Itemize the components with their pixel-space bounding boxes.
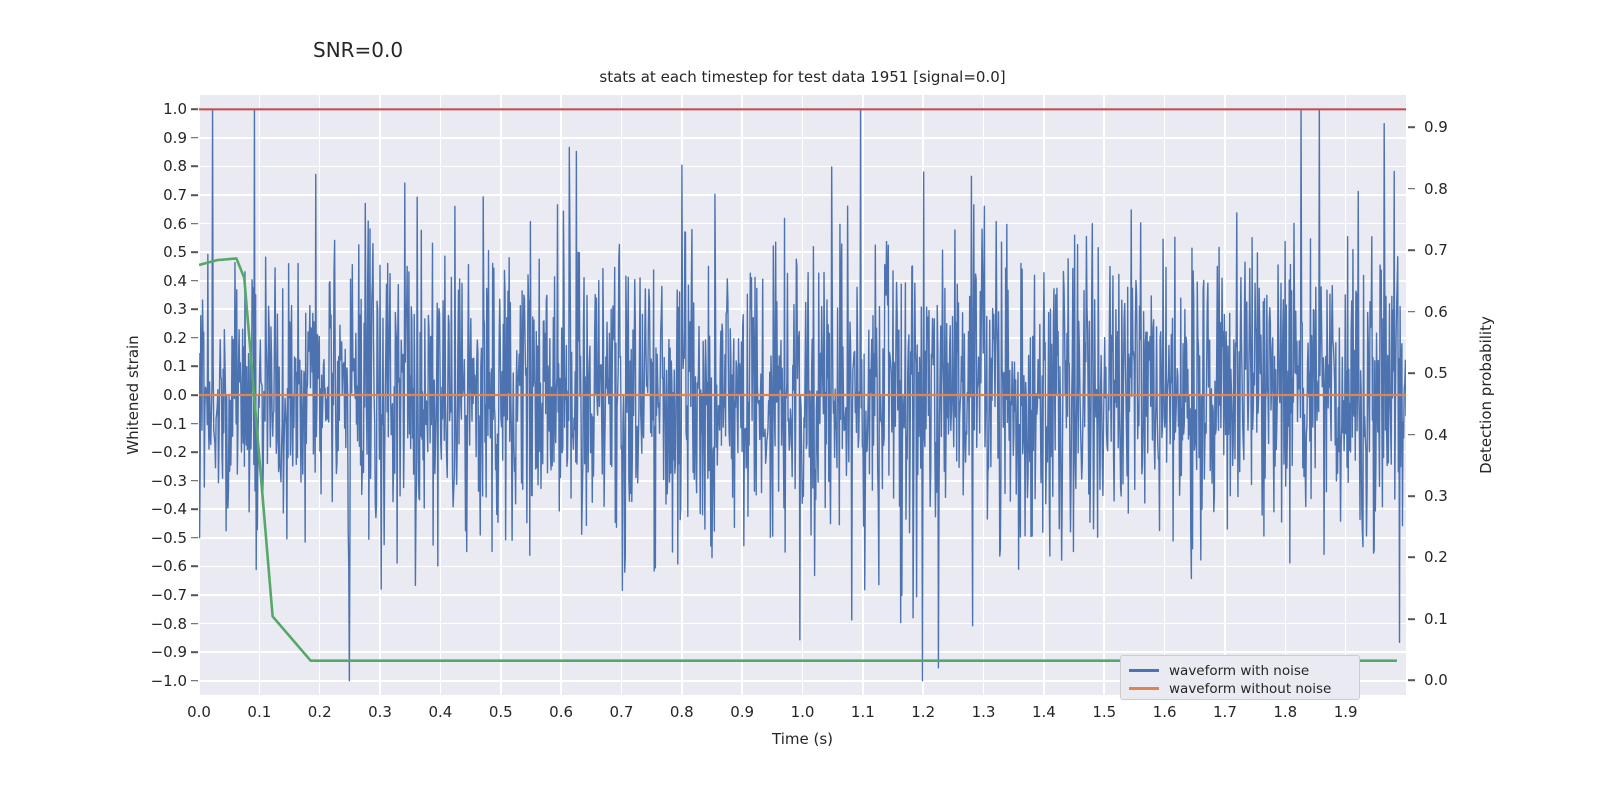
y-tick-label-left: 0.3 [163, 300, 187, 318]
y-tick-label-left: 0.7 [163, 186, 187, 204]
y-tick-mark-left [191, 337, 198, 339]
y-tick-label-left: −0.3 [151, 472, 187, 490]
figure: SNR=0.0 stats at each timestep for test … [0, 0, 1600, 800]
y-tick-label-left: 0.4 [163, 272, 187, 290]
y-tick-mark-left [191, 594, 198, 596]
y-tick-label-left: 0.0 [163, 386, 187, 404]
x-tick-label: 1.9 [1334, 703, 1358, 721]
y-tick-label-right: 0.3 [1424, 487, 1448, 505]
y-tick-label-right: 0.5 [1424, 364, 1448, 382]
x-tick-label: 0.6 [549, 703, 573, 721]
y-tick-label-left: 0.1 [163, 357, 187, 375]
y-tick-label-left: −0.6 [151, 557, 187, 575]
y-tick-label-right: 0.0 [1424, 671, 1448, 689]
y-tick-mark-left [191, 480, 198, 482]
x-tick-label: 1.2 [911, 703, 935, 721]
y-tick-label-left: −0.5 [151, 529, 187, 547]
y-tick-mark-right [1408, 188, 1415, 190]
y-tick-label-left: −0.2 [151, 443, 187, 461]
legend-label-clean: waveform without noise [1169, 681, 1331, 697]
y-tick-mark-left [191, 651, 198, 653]
x-tick-label: 1.5 [1092, 703, 1116, 721]
x-tick-label: 0.8 [670, 703, 694, 721]
y-tick-label-right: 0.2 [1424, 548, 1448, 566]
y-tick-label-right: 0.1 [1424, 610, 1448, 628]
x-tick-label: 1.3 [972, 703, 996, 721]
y-tick-mark-right [1408, 372, 1415, 374]
x-tick-label: 0.2 [308, 703, 332, 721]
y-tick-mark-left [191, 566, 198, 568]
y-tick-mark-left [191, 280, 198, 282]
legend-swatch-clean [1129, 687, 1159, 689]
y-tick-label-left: −0.8 [151, 615, 187, 633]
legend-item-noise: waveform with noise [1129, 662, 1351, 679]
y-tick-label-left: 0.8 [163, 157, 187, 175]
y-tick-mark-right [1408, 680, 1415, 682]
plot-area [199, 95, 1406, 695]
y-tick-mark-left [191, 451, 198, 453]
plot-curves [199, 95, 1406, 695]
y-tick-mark-left [191, 194, 198, 196]
y-tick-mark-left [191, 680, 198, 682]
y-tick-label-left: −0.9 [151, 643, 187, 661]
y-tick-label-right: 0.6 [1424, 303, 1448, 321]
x-tick-label: 1.6 [1153, 703, 1177, 721]
y-tick-mark-right [1408, 495, 1415, 497]
y-tick-label-right: 0.7 [1424, 241, 1448, 259]
y-tick-mark-right [1408, 311, 1415, 313]
x-tick-label: 0.5 [489, 703, 513, 721]
y-tick-label-right: 0.9 [1424, 118, 1448, 136]
y-tick-mark-left [191, 394, 198, 396]
y-tick-label-left: 1.0 [163, 100, 187, 118]
x-tick-label: 1.8 [1273, 703, 1297, 721]
x-tick-label: 0.3 [368, 703, 392, 721]
x-tick-label: 1.7 [1213, 703, 1237, 721]
chart-legend[interactable]: waveform with noise waveform without noi… [1120, 655, 1360, 700]
y-tick-mark-right [1408, 434, 1415, 436]
x-tick-label: 1.0 [791, 703, 815, 721]
x-tick-label: 1.4 [1032, 703, 1056, 721]
y-axis-left-label: Whitened strain [124, 335, 142, 454]
y-tick-mark-right [1408, 618, 1415, 620]
y-tick-label-left: −0.7 [151, 586, 187, 604]
y-tick-label-right: 0.4 [1424, 426, 1448, 444]
y-tick-label-left: 0.6 [163, 215, 187, 233]
x-tick-label: 0.4 [428, 703, 452, 721]
y-tick-label-left: 0.5 [163, 243, 187, 261]
y-tick-label-left: −0.1 [151, 415, 187, 433]
y-tick-mark-left [191, 623, 198, 625]
legend-label-noise: waveform with noise [1169, 663, 1309, 679]
y-tick-mark-left [191, 308, 198, 310]
y-tick-label-left: −1.0 [151, 672, 187, 690]
y-tick-mark-left [191, 108, 198, 110]
y-tick-mark-left [191, 508, 198, 510]
x-tick-label: 0.7 [610, 703, 634, 721]
y-tick-mark-right [1408, 126, 1415, 128]
snr-annotation: SNR=0.0 [313, 38, 403, 62]
legend-item-clean: waveform without noise [1129, 680, 1351, 697]
x-tick-label: 0.9 [730, 703, 754, 721]
chart-title: stats at each timestep for test data 195… [199, 68, 1406, 86]
y-tick-label-left: 0.9 [163, 129, 187, 147]
y-tick-mark-left [191, 251, 198, 253]
y-tick-label-left: −0.4 [151, 500, 187, 518]
y-tick-mark-left [191, 537, 198, 539]
y-tick-mark-left [191, 366, 198, 368]
y-axis-right-label: Detection probability [1477, 316, 1495, 474]
y-tick-mark-left [191, 137, 198, 139]
y-tick-mark-right [1408, 557, 1415, 559]
y-tick-label-left: 0.2 [163, 329, 187, 347]
x-tick-label: 1.1 [851, 703, 875, 721]
y-tick-mark-right [1408, 249, 1415, 251]
y-tick-mark-left [191, 423, 198, 425]
y-tick-label-right: 0.8 [1424, 180, 1448, 198]
legend-swatch-noise [1129, 669, 1159, 671]
x-axis-label: Time (s) [199, 730, 1406, 748]
x-tick-label: 0.0 [187, 703, 211, 721]
y-tick-mark-left [191, 223, 198, 225]
y-tick-mark-left [191, 166, 198, 168]
x-tick-label: 0.1 [247, 703, 271, 721]
